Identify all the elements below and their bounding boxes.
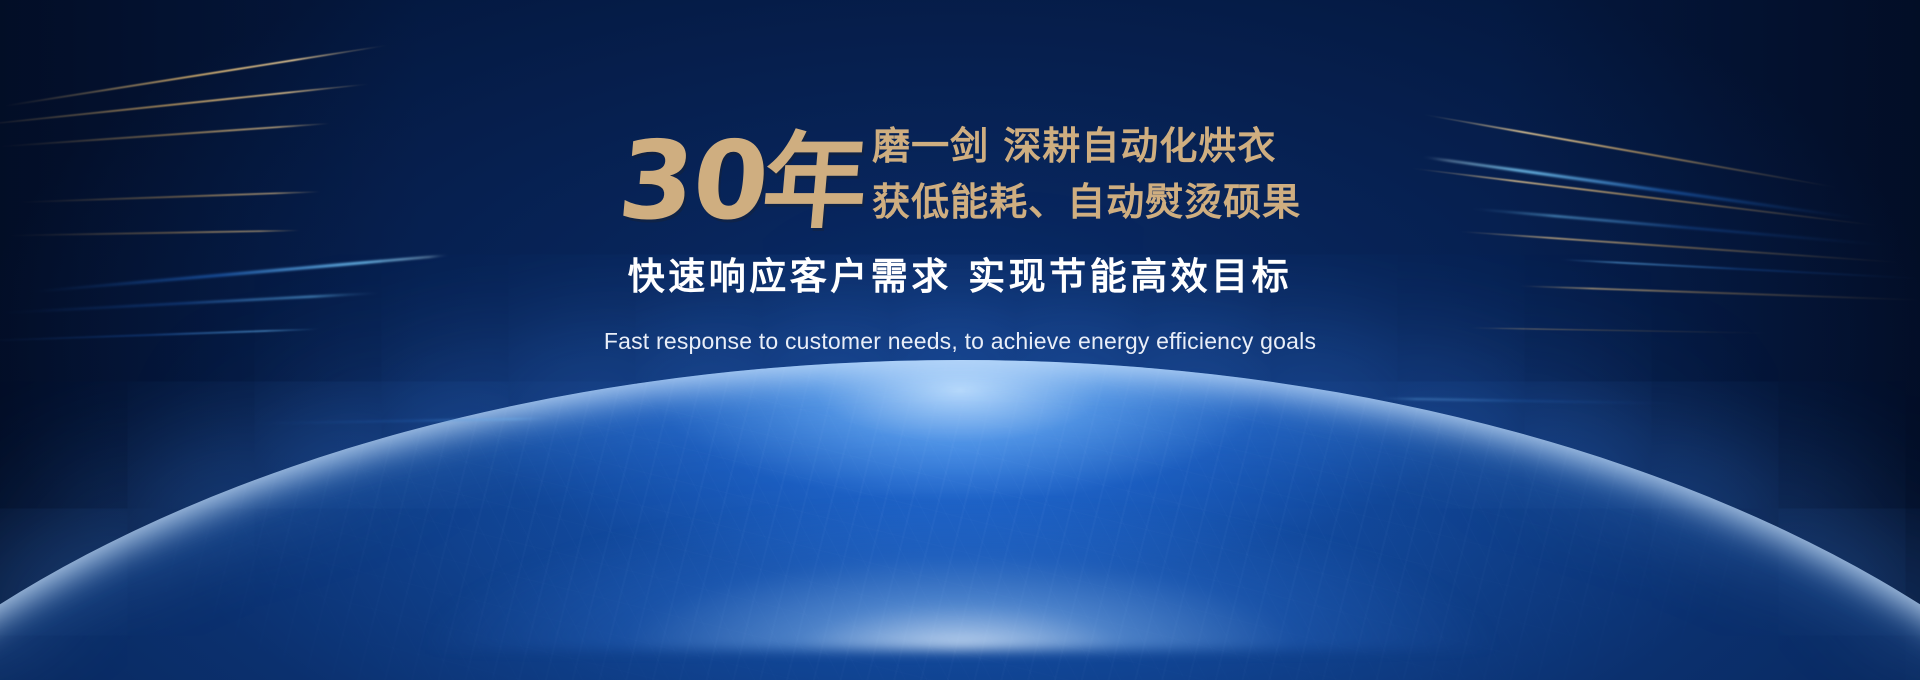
gold-slogan-line-1: 磨一剑 深耕自动化烘衣: [872, 118, 1301, 174]
years-number: 30年: [614, 128, 875, 236]
gold-slogan-line-2: 获低能耗、自动熨烫硕果: [872, 174, 1301, 230]
years-digits: 30: [613, 119, 772, 244]
promo-banner: 30年 磨一剑 深耕自动化烘衣 获低能耗、自动熨烫硕果 快速响应客户需求 实现节…: [0, 0, 1920, 680]
banner-content: 30年 磨一剑 深耕自动化烘衣 获低能耗、自动熨烫硕果 快速响应客户需求 实现节…: [0, 118, 1920, 357]
subheadline-block: 快速响应客户需求 实现节能高效目标 Fast response to custo…: [0, 254, 1920, 356]
subheadline-english: Fast response to customer needs, to achi…: [0, 327, 1920, 357]
subheadline-chinese: 快速响应客户需求 实现节能高效目标: [0, 254, 1920, 300]
gold-slogan-group: 磨一剑 深耕自动化烘衣 获低能耗、自动熨烫硕果: [872, 118, 1301, 236]
headline-block: 30年 磨一剑 深耕自动化烘衣 获低能耗、自动熨烫硕果: [619, 118, 1301, 236]
years-unit-character: 年: [758, 121, 872, 243]
headline-top-row: 30年 磨一剑 深耕自动化烘衣 获低能耗、自动熨烫硕果: [619, 118, 1301, 236]
